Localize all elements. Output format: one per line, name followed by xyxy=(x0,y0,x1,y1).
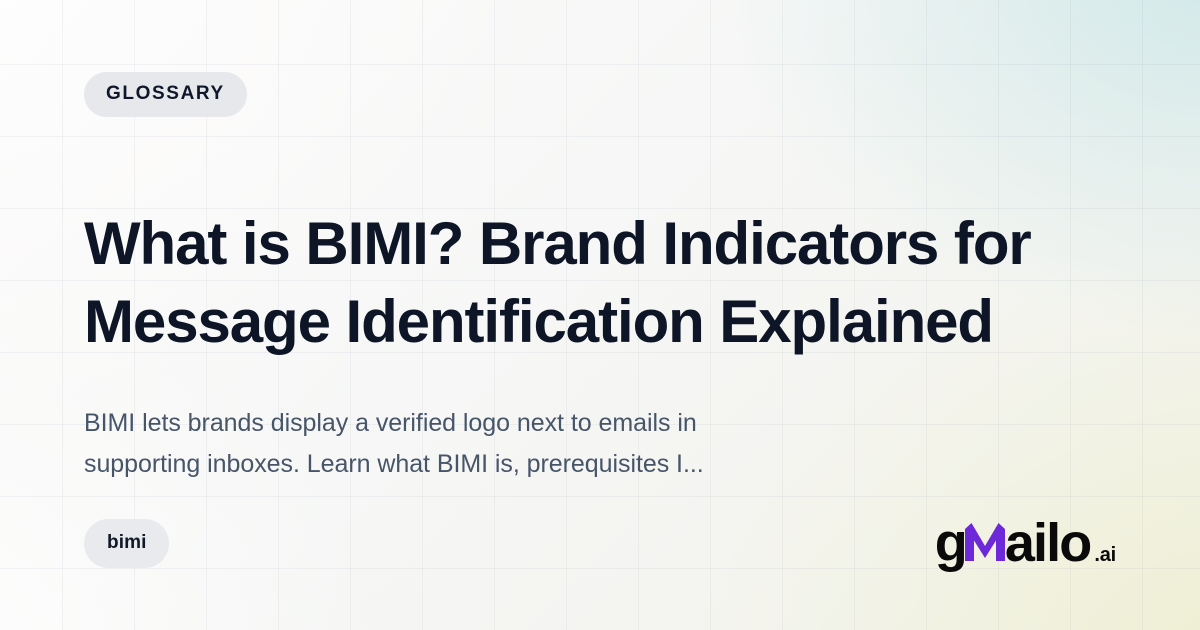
category-badge: GLOSSARY xyxy=(84,72,247,117)
brand-logo-m-icon xyxy=(963,522,1007,562)
card-footer: bimi gailo.ai xyxy=(84,516,1116,570)
brand-logo: gailo.ai xyxy=(935,516,1116,570)
brand-logo-text-g: g xyxy=(935,516,966,570)
page-description: BIMI lets brands display a verified logo… xyxy=(84,403,864,484)
page-title-line-2: Message Identification Explained xyxy=(84,288,993,355)
tag-badge-bimi: bimi xyxy=(84,519,169,568)
page-title-line-1: What is BIMI? Brand Indicators for xyxy=(84,210,1031,277)
badge-row: GLOSSARY xyxy=(84,72,1116,117)
page-description-line-1: BIMI lets brands display a verified logo… xyxy=(84,409,697,437)
page-description-line-2: supporting inboxes. Learn what BIMI is, … xyxy=(84,450,704,478)
headline-block: What is BIMI? Brand Indicators for Messa… xyxy=(84,205,1116,361)
brand-logo-suffix: .ai xyxy=(1094,545,1116,565)
og-card: GLOSSARY What is BIMI? Brand Indicators … xyxy=(0,0,1200,630)
card-content: GLOSSARY What is BIMI? Brand Indicators … xyxy=(0,0,1200,630)
brand-logo-text-ailo: ailo xyxy=(1005,516,1090,570)
page-title: What is BIMI? Brand Indicators for Messa… xyxy=(84,205,1084,361)
